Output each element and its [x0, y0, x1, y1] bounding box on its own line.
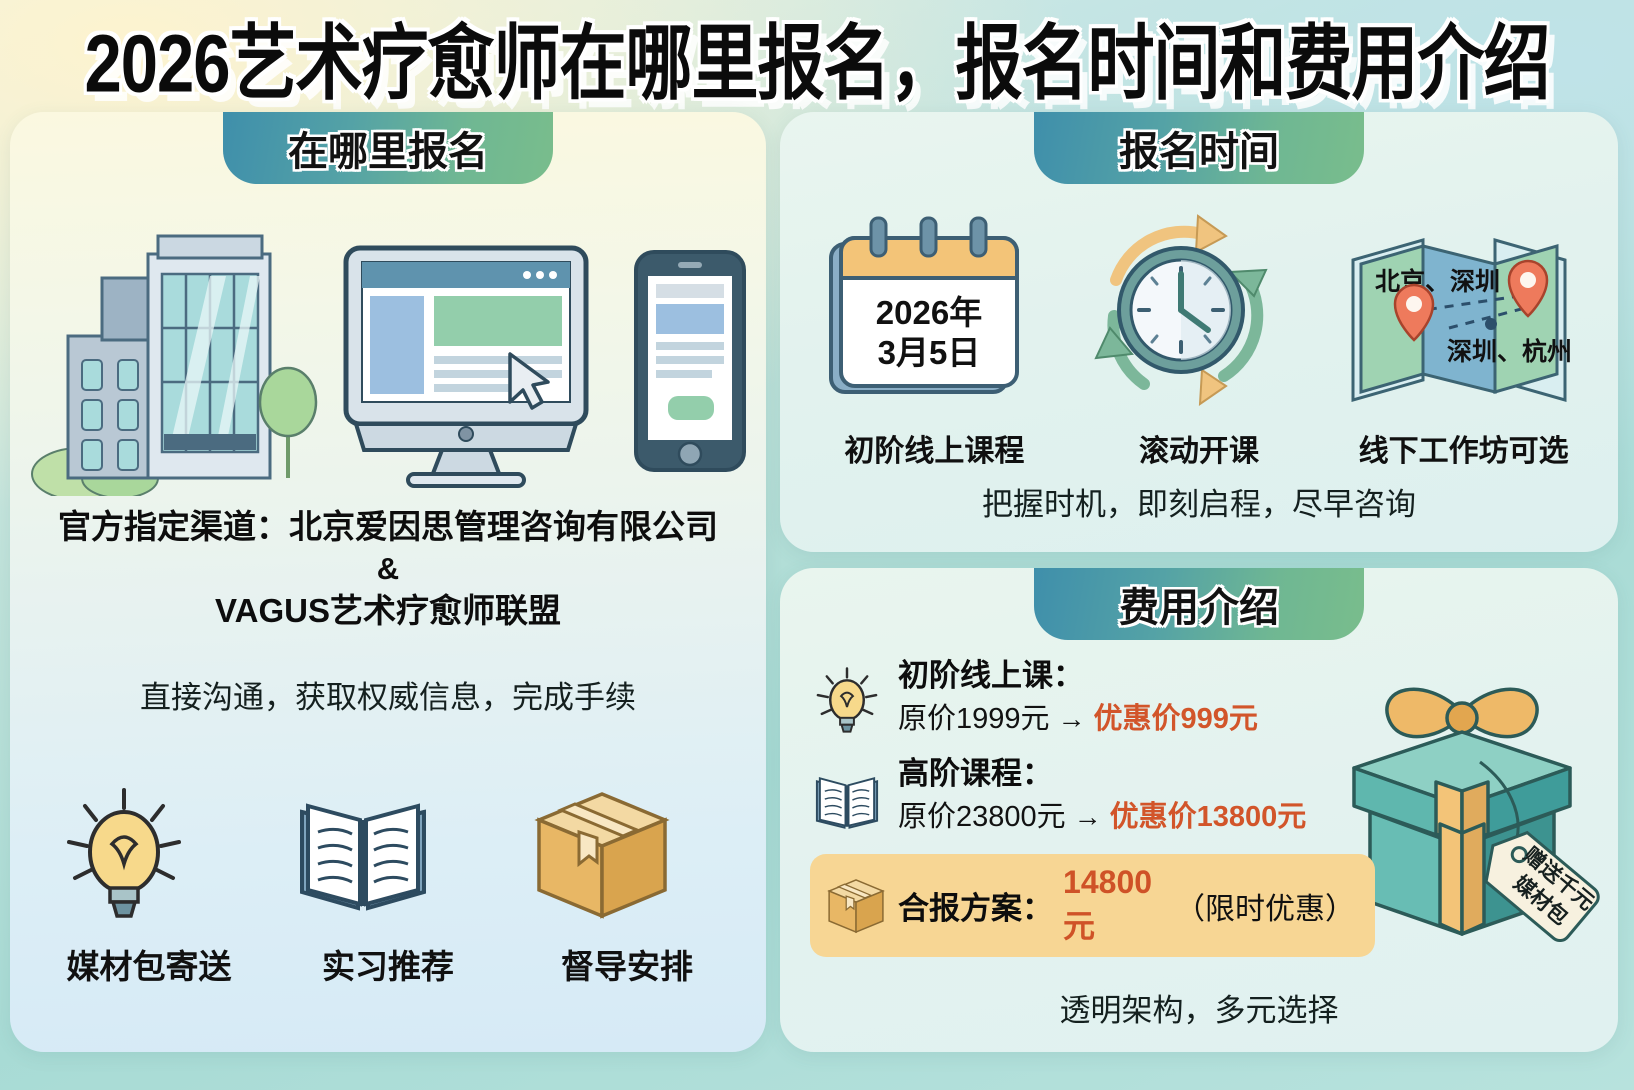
right-column: 报名时间 2026年 3月5日: [780, 112, 1618, 1074]
where-column: 在哪里报名: [10, 112, 766, 1074]
time-item-rolling-start: 滚动开课: [1074, 208, 1324, 470]
package-box-icon: [527, 780, 677, 930]
benefits-row: 媒材包寄送: [10, 780, 766, 988]
time-item-offline-workshop: 北京、深圳 深圳、杭州: [1339, 208, 1589, 470]
where-card-tab-label: 在哪里报名: [288, 119, 488, 177]
benefit-item-internship: 实习推荐: [288, 780, 488, 988]
channel-text-block: 官方指定渠道：北京爱因思管理咨询有限公司 & VAGUS艺术疗愈师联盟 直接沟通…: [10, 504, 766, 717]
combo-plan-label: 合报方案：: [898, 883, 1053, 928]
open-book-icon: [810, 762, 884, 842]
benefit-label: 媒材包寄送: [49, 940, 249, 988]
time-item-label: 初阶线上课程: [809, 426, 1059, 470]
calendar-day: 3月5日: [878, 334, 981, 371]
arrow-icon: →: [1058, 703, 1086, 735]
fee-card-tab: 费用介绍: [1034, 568, 1364, 640]
office-building-icon: [68, 236, 270, 478]
page-title-bar: 2026艺术疗愈师在哪里报名，报名时间和费用介绍: [0, 0, 1634, 112]
combo-plan-price: 14800元: [1063, 864, 1165, 947]
map-label-bottom: 深圳、杭州: [1447, 337, 1572, 366]
lightbulb-icon: [810, 664, 884, 744]
time-card-tab: 报名时间: [1034, 112, 1364, 184]
fee-introduction-card: 费用介绍: [780, 568, 1618, 1052]
calendar-icon: 2026年 3月5日: [809, 208, 1039, 418]
page-title: 2026艺术疗愈师在哪里报名，报名时间和费用介绍: [84, 0, 1549, 115]
alliance-line: VAGUS艺术疗愈师联盟: [10, 588, 766, 634]
fee-row-title: 初阶线上课：: [898, 658, 1258, 695]
calendar-year: 2026年: [876, 294, 982, 331]
fee-row-advanced: 高阶课程： 原价23800元 → 优惠价13800元: [810, 756, 1370, 842]
fee-rows: 初阶线上课： 原价1999元 → 优惠价999元: [810, 658, 1370, 957]
where-card-tab: 在哪里报名: [223, 112, 553, 184]
folded-map-icon: 北京、深圳 深圳、杭州: [1339, 208, 1579, 418]
ampersand: &: [10, 550, 766, 589]
fee-card-subtitle: 透明架构，多元选择: [780, 985, 1618, 1030]
cycle-clock-icon: [1074, 208, 1289, 418]
lightbulb-icon: [49, 780, 199, 930]
benefit-label: 实习推荐: [288, 940, 488, 988]
fee-original-price: 原价1999元: [898, 695, 1050, 737]
fee-row-basic: 初阶线上课： 原价1999元 → 优惠价999元: [810, 658, 1370, 744]
benefit-label: 督导安排: [527, 940, 727, 988]
fee-card-tab-label: 费用介绍: [1119, 575, 1279, 633]
where-card-subtitle: 直接沟通，获取权威信息，完成手续: [10, 672, 766, 717]
map-label-top: 北京、深圳: [1375, 267, 1500, 296]
time-card-tab-label: 报名时间: [1119, 119, 1279, 177]
smartphone-icon: [636, 252, 744, 470]
time-items-row: 2026年 3月5日 初阶线上课程: [780, 208, 1618, 470]
fee-discount-price: 优惠价13800元: [1110, 793, 1307, 835]
fee-original-price: 原价23800元: [898, 793, 1066, 835]
content-board: 在哪里报名: [0, 112, 1634, 1090]
fee-row-title: 高阶课程：: [898, 756, 1306, 793]
registration-channels-illustration: [10, 206, 766, 496]
combo-plan-note: （限时优惠）: [1175, 884, 1355, 928]
time-item-label: 滚动开课: [1074, 426, 1324, 470]
benefit-item-media-kit: 媒材包寄送: [49, 780, 249, 988]
registration-time-card: 报名时间 2026年 3月5日: [780, 112, 1618, 552]
arrow-icon: →: [1074, 801, 1102, 833]
combo-plan-highlight: 合报方案： 14800元 （限时优惠）: [810, 854, 1375, 957]
fee-discount-price: 优惠价999元: [1094, 695, 1258, 737]
package-box-icon: [824, 867, 888, 945]
official-channel-line: 官方指定渠道：北京爱因思管理咨询有限公司: [10, 504, 766, 550]
open-book-icon: [288, 780, 438, 930]
time-item-online-course: 2026年 3月5日 初阶线上课程: [809, 208, 1059, 470]
where-to-register-card: 在哪里报名: [10, 112, 766, 1052]
time-card-subtitle: 把握时机，即刻启程，尽早咨询: [780, 479, 1618, 524]
benefit-item-supervision: 督导安排: [527, 780, 727, 988]
time-item-label: 线下工作坊可选: [1339, 426, 1589, 470]
desktop-monitor-icon: [346, 248, 586, 486]
